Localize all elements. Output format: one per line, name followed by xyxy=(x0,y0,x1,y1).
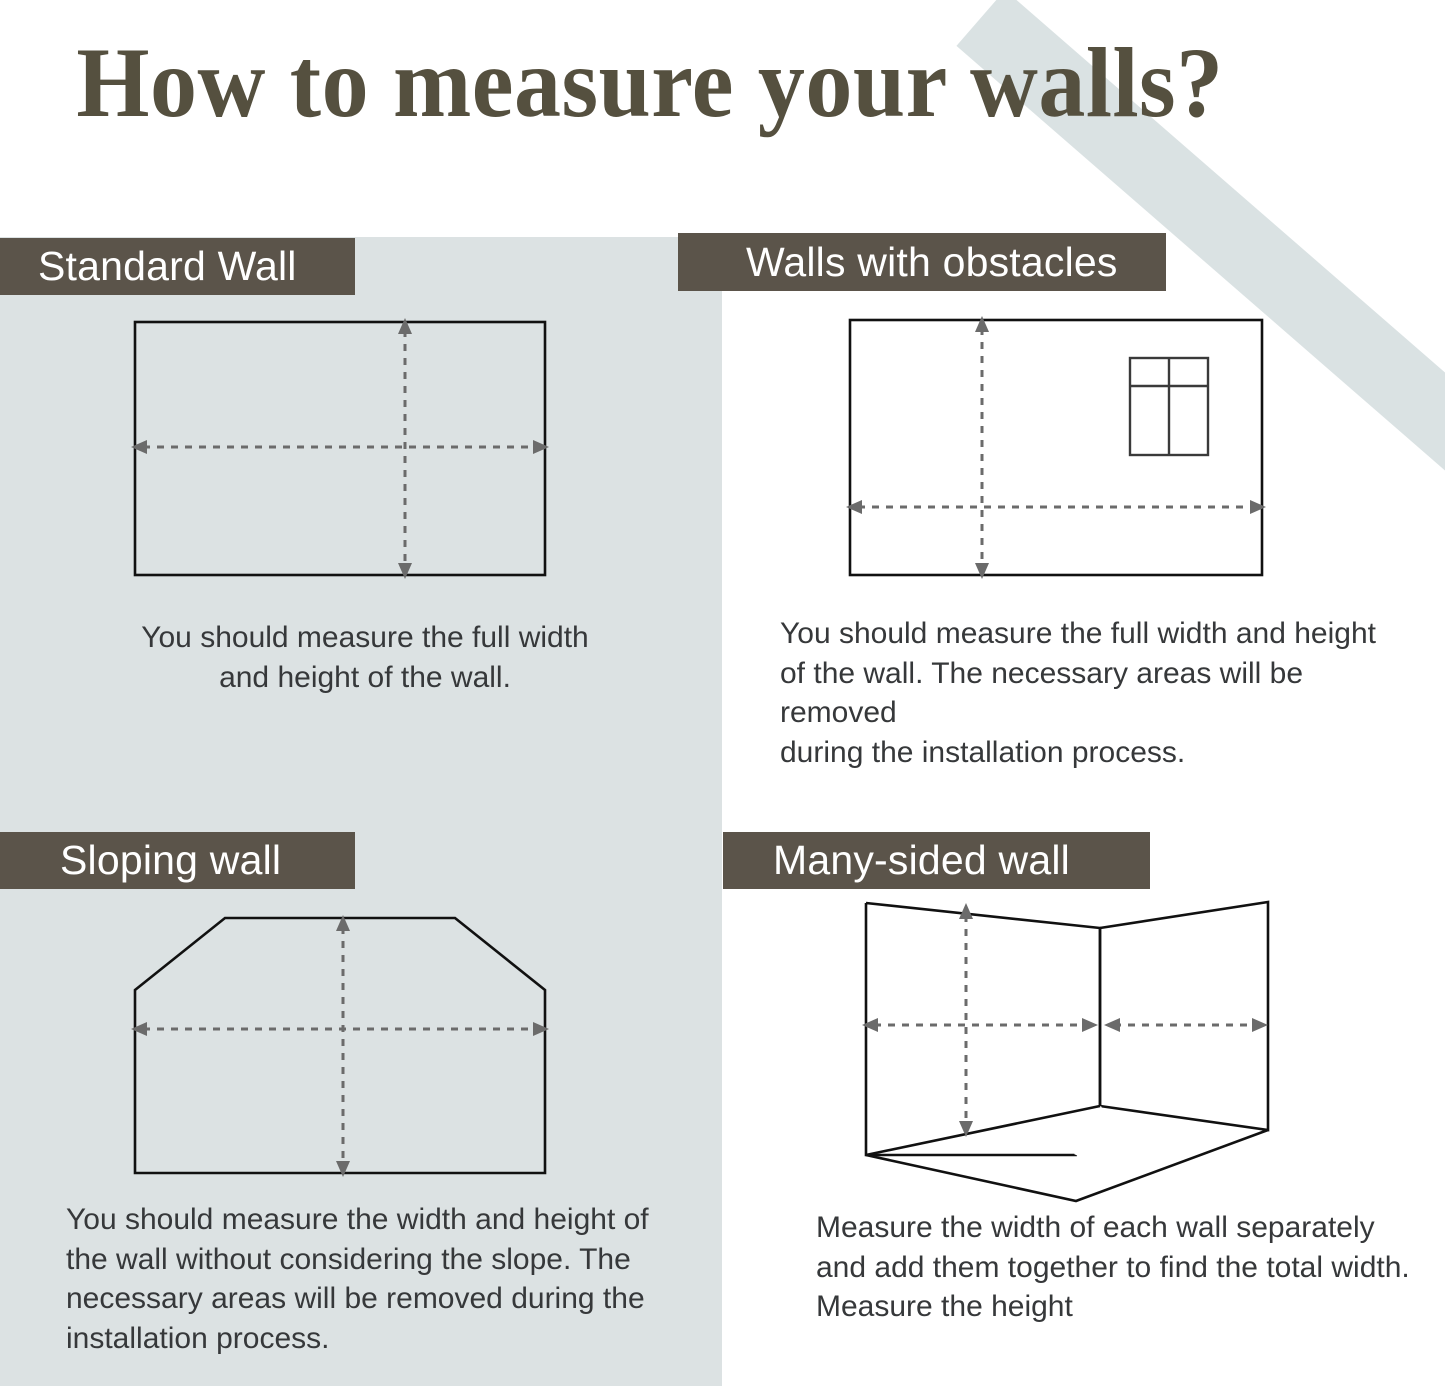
height-arrowhead-bottom xyxy=(336,1161,350,1177)
width-arrowhead-right xyxy=(1250,500,1266,514)
width-arrowhead-right xyxy=(533,1022,549,1036)
window-obstacle-icon xyxy=(1130,358,1208,455)
right-wall-width-arrowhead-right xyxy=(1252,1018,1268,1032)
section-header-label: Standard Wall xyxy=(38,243,297,290)
section-header-label: Walls with obstacles xyxy=(746,239,1118,286)
width-arrowhead-right xyxy=(533,440,549,454)
infographic-page: How to measure your walls? Standard Wall… xyxy=(0,0,1445,1386)
section-header-many-sided-wall: Many-sided wall xyxy=(723,832,1150,889)
width-arrowhead-left xyxy=(131,1022,147,1036)
right-wall-width-arrowhead-left xyxy=(1104,1018,1120,1032)
section-header-label: Sloping wall xyxy=(60,837,281,884)
wall-outline xyxy=(135,918,545,1173)
diagram-standard-wall xyxy=(100,300,580,600)
floor-edge-mask xyxy=(1076,1106,1100,1155)
caption-walls-with-obstacles: You should measure the full width and he… xyxy=(780,614,1420,772)
left-wall-outline xyxy=(866,903,1100,1155)
height-arrowhead-top xyxy=(398,318,412,334)
right-wall-outline xyxy=(1100,902,1268,1130)
section-header-walls-with-obstacles: Walls with obstacles xyxy=(678,233,1166,291)
floor-outline xyxy=(866,1130,1268,1201)
diagram-sloping-wall xyxy=(100,895,580,1195)
height-arrowhead-bottom xyxy=(398,563,412,579)
height-arrowhead-bottom xyxy=(975,563,989,579)
width-arrowhead-left xyxy=(846,500,862,514)
floor-left-edge xyxy=(866,1106,1100,1155)
diagram-walls-with-obstacles xyxy=(820,300,1300,600)
caption-sloping-wall: You should measure the width and height … xyxy=(66,1200,666,1358)
section-header-label: Many-sided wall xyxy=(773,837,1070,884)
section-header-standard-wall: Standard Wall xyxy=(0,238,355,295)
height-arrowhead-top xyxy=(975,316,989,332)
width-arrowhead-left xyxy=(131,440,147,454)
caption-standard-wall: You should measure the full width and he… xyxy=(105,618,625,697)
diagram-many-sided-wall xyxy=(830,885,1310,1215)
caption-many-sided-wall: Measure the width of each wall separatel… xyxy=(816,1208,1426,1327)
page-title: How to measure your walls? xyxy=(39,28,1261,138)
left-wall-width-arrowhead-right xyxy=(1082,1018,1098,1032)
height-arrowhead-top xyxy=(959,903,973,919)
left-wall-width-arrowhead-left xyxy=(862,1018,878,1032)
section-header-sloping-wall: Sloping wall xyxy=(0,832,355,889)
